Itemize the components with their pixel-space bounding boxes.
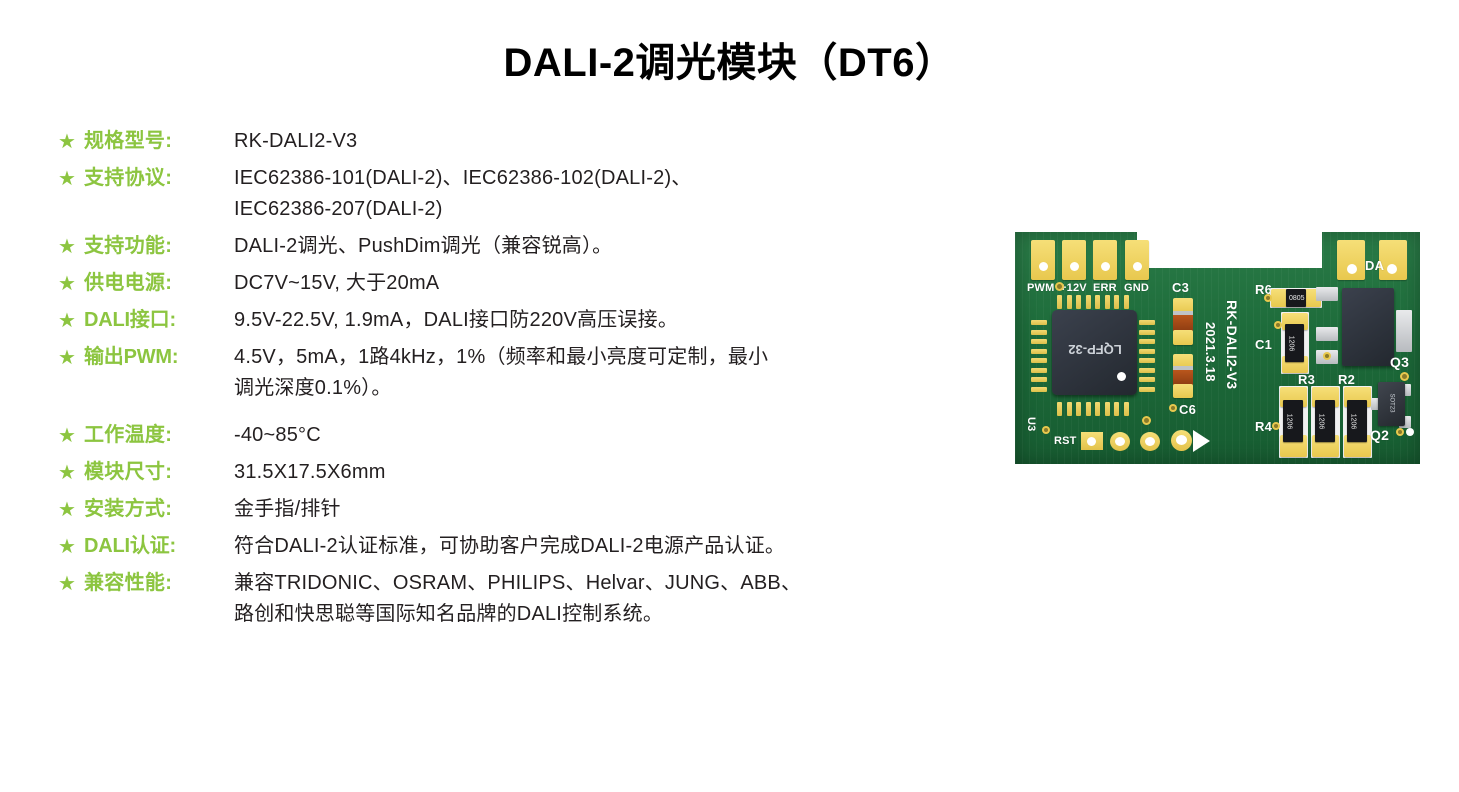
res-r4-code: 1206 — [1285, 414, 1292, 430]
ic-legs-left — [1031, 320, 1047, 392]
star-icon: ★ — [58, 268, 84, 298]
polarity-marker-icon — [1193, 430, 1210, 452]
via-r4 — [1272, 422, 1280, 430]
silk-r4: R4 — [1255, 419, 1272, 434]
star-icon: ★ — [58, 163, 84, 193]
silk-rst: RST — [1054, 435, 1077, 447]
spec-value-line: IEC62386-101(DALI-2)、IEC62386-102(DALI-2… — [234, 163, 958, 194]
silk-u3: U3 — [1025, 417, 1037, 431]
page-title: DALI-2调光模块（DT6） — [0, 30, 1459, 88]
spec-value-line: 9.5V-22.5V, 1.9mA，DALI接口防220V高压误接。 — [234, 305, 958, 336]
spec-label: DALI认证: — [84, 531, 234, 561]
spec-value-line: IEC62386-207(DALI-2) — [234, 194, 958, 225]
star-icon: ★ — [58, 126, 84, 156]
spec-label: 输出PWM: — [84, 342, 234, 372]
spec-label: DALI接口: — [84, 305, 234, 335]
res-r2-body: 1206 — [1347, 400, 1367, 442]
silk-board-name: RK-DALI2-V3 — [1224, 300, 1240, 389]
silk-r3: R3 — [1298, 372, 1315, 387]
spec-value-line: RK-DALI2-V3 — [234, 126, 958, 157]
via-q2-c — [1400, 372, 1409, 381]
q2-code: SOT23 — [1389, 390, 1395, 417]
res-r4-body: 1206 — [1283, 400, 1303, 442]
spec-row: ★ 输出PWM: 4.5V，5mA，1路4kHz，1%（频率和最小亮度可定制，最… — [58, 342, 958, 404]
silk-err: ERR — [1093, 282, 1117, 294]
ic-package-label: LQFP-32 — [1063, 342, 1127, 357]
spec-row: ★ 模块尺寸: 31.5X17.5X6mm — [58, 457, 958, 488]
pcb-product-image: PWM +12V ERR GND DA — [1015, 232, 1420, 464]
via-c6 — [1169, 404, 1177, 412]
via-q2-a — [1396, 428, 1404, 436]
spacer — [58, 410, 958, 420]
ic-legs-bottom — [1057, 402, 1129, 416]
res-r6-code: 0805 — [1289, 295, 1305, 302]
cap-c3-pad-bottom — [1173, 330, 1193, 345]
test-ring-3 — [1171, 430, 1192, 451]
spec-label: 兼容性能: — [84, 568, 234, 598]
spec-value: 金手指/排针 — [234, 494, 958, 525]
spec-value: 4.5V，5mA，1路4kHz，1%（频率和最小亮度可定制，最小 调光深度0.1… — [234, 342, 958, 404]
spec-label: 支持功能: — [84, 231, 234, 261]
res-r3-code: 1206 — [1317, 414, 1324, 430]
spec-label: 供电电源: — [84, 268, 234, 298]
cap-c6-pad-bottom — [1173, 384, 1193, 398]
spec-value-line: DC7V~15V, 大于20mA — [234, 268, 958, 299]
star-icon: ★ — [58, 568, 84, 598]
ic-legs-top — [1057, 295, 1129, 309]
cap-c6-body — [1173, 370, 1193, 385]
test-ring-2 — [1140, 432, 1160, 451]
spec-label: 模块尺寸: — [84, 457, 234, 487]
silk-c6: C6 — [1179, 402, 1196, 417]
pcb-board: PWM +12V ERR GND DA — [1015, 232, 1420, 464]
cap-c1-body: 1206 — [1285, 324, 1304, 362]
via-c1 — [1274, 321, 1282, 329]
spec-value: 9.5V-22.5V, 1.9mA，DALI接口防220V高压误接。 — [234, 305, 958, 336]
spec-row: ★ DALI接口: 9.5V-22.5V, 1.9mA，DALI接口防220V高… — [58, 305, 958, 336]
star-icon: ★ — [58, 457, 84, 487]
silk-r2: R2 — [1338, 372, 1355, 387]
q3-pad-4 — [1396, 310, 1412, 352]
spec-value-line: 调光深度0.1%）。 — [234, 373, 958, 404]
via-q3 — [1323, 352, 1331, 360]
spec-label: 规格型号: — [84, 126, 234, 156]
spec-row: ★ DALI认证: 符合DALI-2认证标准，可协助客户完成DALI-2电源产品… — [58, 531, 958, 562]
silk-q2: Q2 — [1370, 427, 1389, 443]
ic-pin1-dot — [1117, 372, 1126, 381]
star-icon: ★ — [58, 420, 84, 450]
q3-pad-2 — [1316, 327, 1338, 341]
spec-value-line: DALI-2调光、PushDim调光（兼容锐高）。 — [234, 231, 958, 262]
spec-value-line: 31.5X17.5X6mm — [234, 457, 958, 488]
cap-c3-body — [1173, 315, 1193, 331]
res-r3-body: 1206 — [1315, 400, 1335, 442]
pad-12v — [1062, 240, 1086, 280]
spec-value-line: 4.5V，5mA，1路4kHz，1%（频率和最小亮度可定制，最小 — [234, 342, 958, 373]
res-r2-code: 1206 — [1349, 414, 1356, 430]
silk-da: DA — [1365, 258, 1384, 273]
spec-value: IEC62386-101(DALI-2)、IEC62386-102(DALI-2… — [234, 163, 958, 225]
q3-body — [1342, 288, 1394, 366]
silk-q3: Q3 — [1390, 354, 1409, 370]
spec-value-line: 路创和快思聪等国际知名品牌的DALI控制系统。 — [234, 599, 958, 630]
spec-row: ★ 规格型号: RK-DALI2-V3 — [58, 126, 958, 157]
spec-value-line: -40~85°C — [234, 420, 958, 451]
via-ic-tl — [1055, 282, 1064, 291]
via-u3 — [1042, 426, 1050, 434]
spec-value: 符合DALI-2认证标准，可协助客户完成DALI-2电源产品认证。 — [234, 531, 958, 562]
spec-value-line: 金手指/排针 — [234, 494, 958, 525]
star-icon: ★ — [58, 305, 84, 335]
spec-value: DALI-2调光、PushDim调光（兼容锐高）。 — [234, 231, 958, 262]
pad-da-left — [1337, 240, 1365, 280]
silk-board-date: 2021.3.18 — [1203, 322, 1218, 382]
pad-pwm — [1031, 240, 1055, 280]
pad-gnd — [1125, 240, 1149, 280]
spec-value: 兼容TRIDONIC、OSRAM、PHILIPS、Helvar、JUNG、ABB… — [234, 568, 958, 630]
spec-value-line: 兼容TRIDONIC、OSRAM、PHILIPS、Helvar、JUNG、ABB… — [234, 568, 958, 599]
test-ring-1 — [1110, 432, 1130, 451]
spec-value: RK-DALI2-V3 — [234, 126, 958, 157]
spec-row: ★ 支持功能: DALI-2调光、PushDim调光（兼容锐高）。 — [58, 231, 958, 262]
star-icon: ★ — [58, 342, 84, 372]
ic-legs-right — [1139, 320, 1155, 392]
spec-label: 安装方式: — [84, 494, 234, 524]
spec-value: -40~85°C — [234, 420, 958, 451]
star-icon: ★ — [58, 231, 84, 261]
star-icon: ★ — [58, 494, 84, 524]
res-r6-pad-left — [1271, 289, 1287, 307]
silk-pwm: PWM — [1027, 282, 1054, 294]
via-ic-br — [1142, 416, 1151, 425]
silk-c3: C3 — [1172, 280, 1189, 295]
star-icon: ★ — [58, 531, 84, 561]
spec-value-line: 符合DALI-2认证标准，可协助客户完成DALI-2电源产品认证。 — [234, 531, 958, 562]
spec-row: ★ 支持协议: IEC62386-101(DALI-2)、IEC62386-10… — [58, 163, 958, 225]
pad-err — [1093, 240, 1117, 280]
q3-pad-1 — [1316, 287, 1338, 301]
spec-value: DC7V~15V, 大于20mA — [234, 268, 958, 299]
spec-row: ★ 安装方式: 金手指/排针 — [58, 494, 958, 525]
spec-row: ★ 工作温度: -40~85°C — [58, 420, 958, 451]
specification-list: ★ 规格型号: RK-DALI2-V3 ★ 支持协议: IEC62386-101… — [58, 126, 958, 636]
silk-12v: +12V — [1060, 282, 1087, 294]
via-q2-b — [1406, 428, 1414, 436]
res-r6-body: 0805 — [1286, 289, 1306, 307]
spec-row: ★ 兼容性能: 兼容TRIDONIC、OSRAM、PHILIPS、Helvar、… — [58, 568, 958, 630]
q2-body: SOT23 — [1378, 382, 1405, 426]
cap-c1-code: 1206 — [1287, 336, 1294, 352]
page-root: DALI-2调光模块（DT6） ★ 规格型号: RK-DALI2-V3 ★ 支持… — [0, 0, 1459, 792]
pad-rst — [1081, 432, 1103, 450]
silk-c1: C1 — [1255, 337, 1272, 352]
spec-label: 支持协议: — [84, 163, 234, 193]
spec-label: 工作温度: — [84, 420, 234, 450]
via-r6 — [1264, 294, 1272, 302]
silk-gnd: GND — [1124, 282, 1149, 294]
spec-value: 31.5X17.5X6mm — [234, 457, 958, 488]
spec-row: ★ 供电电源: DC7V~15V, 大于20mA — [58, 268, 958, 299]
